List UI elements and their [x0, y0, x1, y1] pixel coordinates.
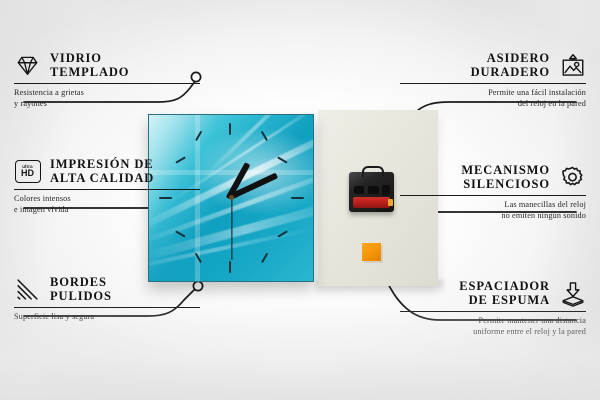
feature-divider [14, 189, 200, 190]
feature-title: MECANISMOSILENCIOSO [461, 164, 550, 191]
feature-divider [400, 83, 586, 84]
clock-center-pin [229, 195, 234, 200]
feature-description: Permite una fácil instalacióndel reloj e… [400, 88, 586, 109]
feature-description: Las manecillas del relojno emiten ningún… [400, 200, 586, 221]
ultra-hd-icon: ultra HD [14, 158, 41, 185]
feature-espaciador-de-espuma: ESPACIADORDE ESPUMA Permite mantener una… [400, 280, 586, 338]
hd-badge-large-label: HD [21, 169, 34, 178]
infographic-canvas: VIDRIOTEMPLADO Resistencia a grietasy ra… [0, 0, 600, 400]
feature-title: IMPRESIÓN DEALTA CALIDAD [50, 158, 154, 185]
feature-header: ultra HD IMPRESIÓN DEALTA CALIDAD [14, 158, 200, 185]
feature-description: Superficie lisa y segura [14, 312, 200, 323]
picture-hanger-icon [559, 52, 586, 79]
clock-mechanism [349, 172, 394, 212]
hour-marker [229, 123, 231, 135]
gear-icon [559, 164, 586, 191]
feature-header: ASIDERODURADERO [400, 52, 586, 79]
feature-divider [14, 83, 200, 84]
feature-impresion-alta-calidad: ultra HD IMPRESIÓN DEALTA CALIDAD Colore… [14, 158, 200, 216]
mechanism-button [368, 186, 379, 194]
foam-spacer-icon [559, 280, 586, 307]
mechanism-hanger-icon [362, 166, 384, 177]
feature-header: MECANISMOSILENCIOSO [400, 164, 586, 191]
feature-mecanismo-silencioso: MECANISMOSILENCIOSO Las manecillas del r… [400, 164, 586, 222]
mechanism-button [382, 185, 390, 195]
diamond-icon [14, 52, 41, 79]
feature-title: ESPACIADORDE ESPUMA [459, 280, 550, 307]
feature-vidrio-templado: VIDRIOTEMPLADO Resistencia a grietasy ra… [14, 52, 200, 110]
feature-header: VIDRIOTEMPLADO [14, 52, 200, 79]
mechanism-button [354, 186, 364, 194]
battery [353, 197, 390, 208]
polished-edge-icon [14, 276, 41, 303]
feature-description: Permite mantener una distanciauniforme e… [400, 316, 586, 337]
second-hand [231, 198, 232, 260]
feature-title: VIDRIOTEMPLADO [50, 52, 129, 79]
feature-description: Resistencia a grietasy rayones [14, 88, 200, 109]
feature-asidero-duradero: ASIDERODURADERO Permite una fácil instal… [400, 52, 586, 110]
hour-marker [229, 261, 231, 273]
feature-header: BORDESPULIDOS [14, 276, 200, 303]
feature-header: ESPACIADORDE ESPUMA [400, 280, 586, 307]
feature-title: ASIDERODURADERO [471, 52, 550, 79]
foam-spacer-piece [362, 243, 381, 261]
feature-divider [400, 195, 586, 196]
feature-title: BORDESPULIDOS [50, 276, 112, 303]
feature-description: Colores intensose imagen vívida [14, 194, 200, 215]
feature-divider [14, 307, 200, 308]
feature-bordes-pulidos: BORDESPULIDOS Superficie lisa y segura [14, 276, 200, 323]
feature-divider [400, 311, 586, 312]
